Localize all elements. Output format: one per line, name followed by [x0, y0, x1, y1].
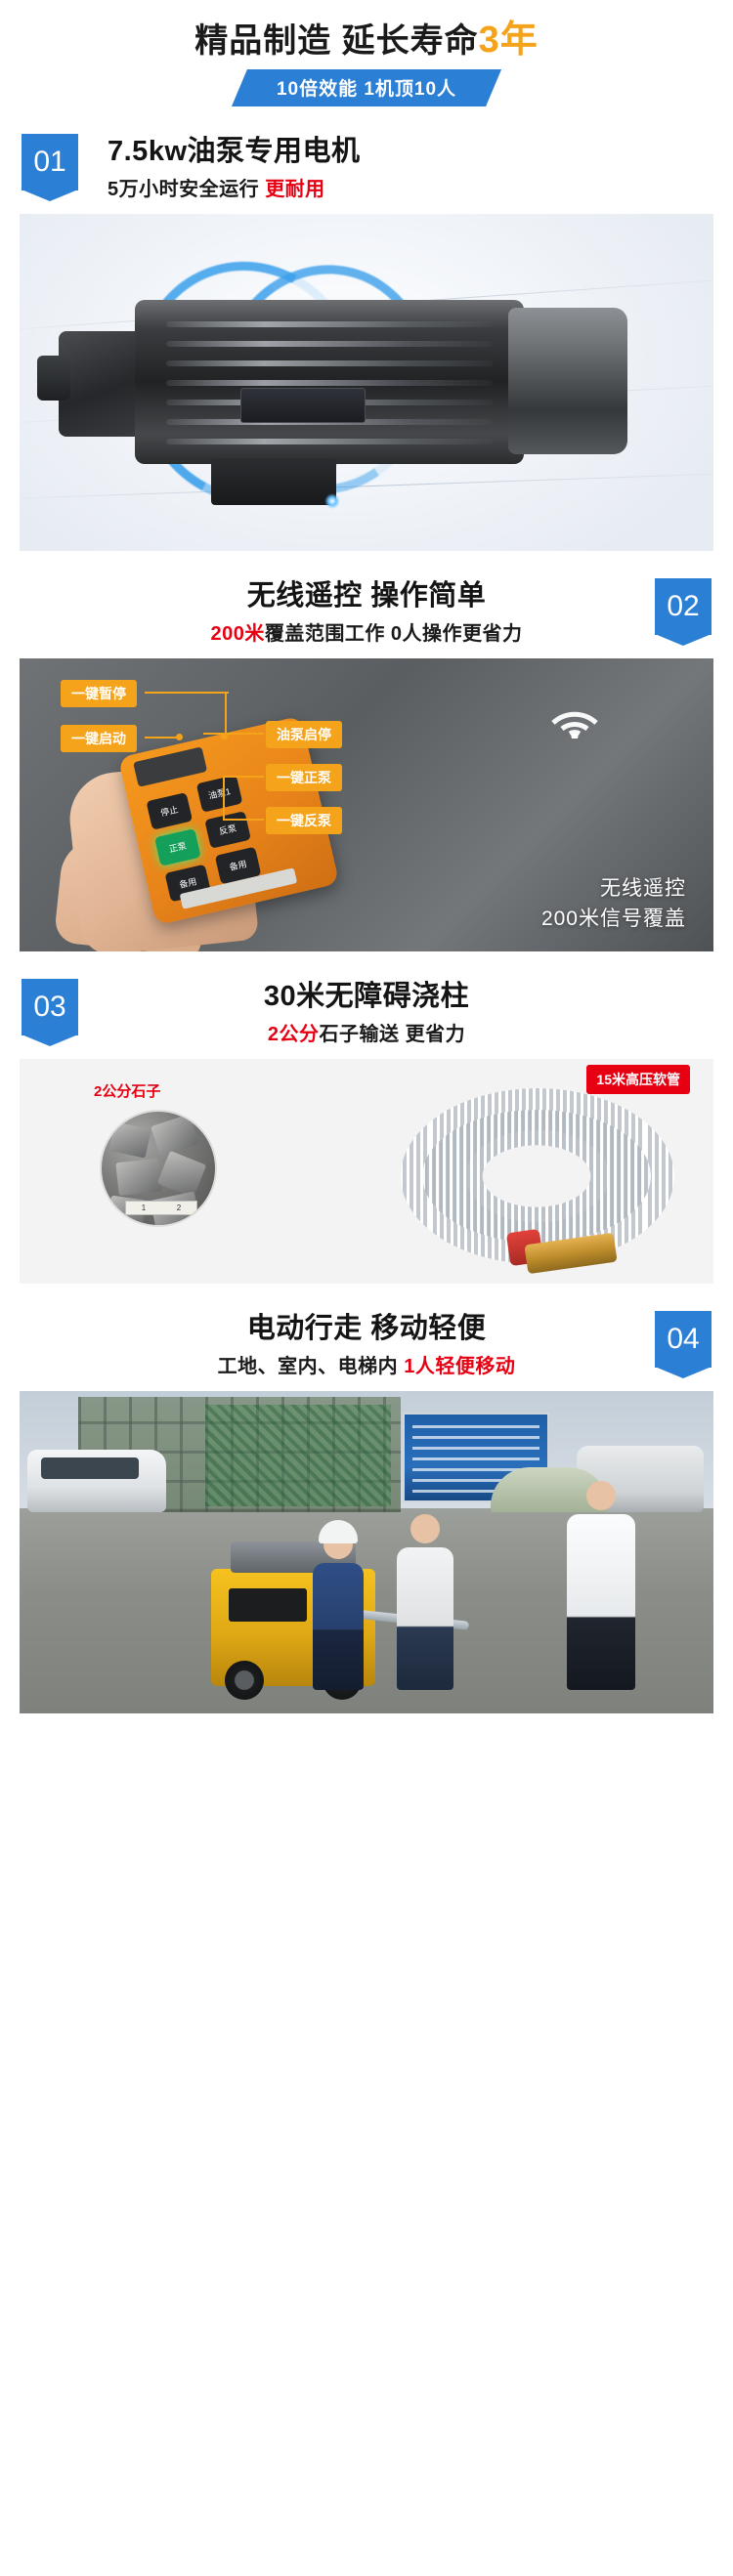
callout-pump-toggle: 油泵启停	[266, 721, 342, 748]
section-03-head: 03 30米无障碍浇柱 2公分石子输送 更省力	[0, 969, 733, 1059]
section-02-headtext: 无线遥控 操作简单 200米覆盖范围工作 0人操作更省力	[0, 569, 733, 649]
section-02-title: 无线遥控 操作简单	[0, 576, 733, 615]
worker-white-shirt	[397, 1547, 453, 1690]
section-04-subtitle: 工地、室内、电梯内 1人轻便移动	[0, 1352, 733, 1381]
section-04-badge: 04	[655, 1311, 711, 1368]
motor-base-foot	[211, 458, 336, 505]
section-04-headtext: 电动行走 移动轻便 工地、室内、电梯内 1人轻便移动	[0, 1301, 733, 1381]
stone-sample-circle: 1 2	[100, 1110, 217, 1227]
section-04: 04 电动行走 移动轻便 工地、室内、电梯内 1人轻便移动	[0, 1301, 733, 1713]
section-02-subtitle: 200米覆盖范围工作 0人操作更省力	[0, 619, 733, 649]
callout-start-dot	[176, 734, 183, 740]
callout-reverse: 一键反泵	[266, 807, 342, 834]
page-title: 精品制造 延长寿命3年	[0, 18, 733, 63]
led-glow-icon	[324, 493, 340, 509]
callout-reverse-line	[223, 819, 264, 821]
product-detail-page: 精品制造 延长寿命3年 10倍效能 1机顶10人 01 7.5kw油泵专用电机 …	[0, 0, 733, 1713]
remote-control-photo: 停止 油泵1 正泵 反泵 备用 备用 一键暂停 一键启动 油泵启停 一键正泵 一…	[20, 658, 713, 951]
ruler-mark-2: 2	[177, 1204, 181, 1212]
section-01-badge: 01	[22, 134, 78, 190]
remote-display	[133, 746, 207, 787]
section-02-badge: 02	[655, 578, 711, 635]
section-01-title: 7.5kw油泵专用电机	[108, 132, 361, 171]
callout-pause-drop	[225, 692, 227, 735]
worker-blue-shirt	[313, 1563, 364, 1690]
motor-photo	[20, 214, 713, 551]
section-03-subtitle-main: 石子输送 更省力	[320, 1024, 466, 1045]
callout-pause-line	[145, 692, 229, 694]
callout-start: 一键启动	[61, 725, 137, 752]
section-01-subtitle-accent: 更耐用	[265, 179, 325, 200]
worker-head-1	[410, 1514, 440, 1543]
remote-button-stop[interactable]: 停止	[146, 792, 193, 830]
stone-size-label: 2公分石子	[94, 1080, 160, 1101]
machine-wheel-left	[225, 1661, 264, 1700]
callout-pump-line	[203, 733, 264, 735]
motor-shaft-housing	[508, 308, 627, 454]
section-03-badge: 03	[22, 979, 78, 1035]
motor-cooling-fins	[135, 300, 524, 464]
wifi-signal-icon	[545, 690, 604, 739]
machine-control-panel	[229, 1588, 307, 1622]
worksite-photo	[20, 1391, 713, 1713]
header-banner-wrap: 10倍效能 1机顶10人	[0, 69, 733, 106]
remote-button-reverse[interactable]: 反泵	[204, 811, 251, 849]
page-title-main: 精品制造 延长寿命	[194, 22, 478, 60]
hose-length-tag: 15米高压软管	[586, 1065, 690, 1094]
page-title-accent: 3年	[479, 20, 539, 61]
remote-corner-caption: 无线遥控 200米信号覆盖	[541, 873, 686, 934]
callout-reverse-drop	[223, 776, 225, 821]
section-03: 03 30米无障碍浇柱 2公分石子输送 更省力 15米高压软管 2公分石子	[0, 969, 733, 1284]
safety-net	[205, 1405, 391, 1506]
section-04-head: 04 电动行走 移动轻便 工地、室内、电梯内 1人轻便移动	[0, 1301, 733, 1391]
callout-pause: 一键暂停	[61, 680, 137, 707]
page-header: 精品制造 延长寿命3年 10倍效能 1机顶10人	[0, 0, 733, 106]
section-03-subtitle: 2公分石子输送 更省力	[0, 1020, 733, 1049]
callout-forward-line	[223, 776, 264, 778]
section-04-subtitle-main: 工地、室内、电梯内	[218, 1356, 405, 1377]
streak-3	[20, 471, 713, 500]
corner-line-1: 无线遥控	[541, 873, 686, 904]
section-01: 01 7.5kw油泵专用电机 5万小时安全运行 更耐用	[0, 124, 733, 551]
section-03-headtext: 30米无障碍浇柱 2公分石子输送 更省力	[0, 969, 733, 1049]
callout-forward: 一键正泵	[266, 764, 342, 791]
section-04-subtitle-accent: 1人轻便移动	[404, 1356, 515, 1377]
white-van	[27, 1450, 166, 1512]
motor-terminal-box	[240, 388, 366, 423]
section-02-subtitle-accent: 200米	[210, 623, 264, 645]
motor-pump-neck	[37, 356, 70, 401]
section-02-head: 02 无线遥控 操作简单 200米覆盖范围工作 0人操作更省力	[0, 569, 733, 658]
header-banner: 10倍效能 1机顶10人	[232, 69, 501, 106]
remote-button-pump[interactable]: 油泵1	[196, 775, 243, 813]
stone-ruler: 1 2	[125, 1201, 197, 1215]
ruler-mark-1: 1	[142, 1204, 146, 1212]
hose-photo: 15米高压软管 2公分石子 1 2	[20, 1059, 713, 1284]
section-02-subtitle-main: 覆盖范围工作 0人操作更省力	[265, 623, 523, 645]
corner-line-2: 200米信号覆盖	[541, 904, 686, 934]
section-03-title: 30米无障碍浇柱	[0, 977, 733, 1016]
worker-foreground	[567, 1514, 635, 1690]
callout-start-line	[145, 737, 180, 739]
hose-coil-inner	[422, 1110, 651, 1243]
section-04-title: 电动行走 移动轻便	[0, 1309, 733, 1348]
remote-button-forward[interactable]: 正泵	[154, 828, 201, 866]
section-01-headtext: 7.5kw油泵专用电机 5万小时安全运行 更耐用	[108, 132, 361, 204]
section-01-subtitle-main: 5万小时安全运行	[108, 179, 265, 200]
section-01-head: 01 7.5kw油泵专用电机 5万小时安全运行 更耐用	[0, 124, 733, 214]
motor-body	[135, 300, 524, 464]
worker-head-3	[586, 1481, 616, 1510]
section-02: 02 无线遥控 操作简单 200米覆盖范围工作 0人操作更省力 停止	[0, 569, 733, 951]
section-01-subtitle: 5万小时安全运行 更耐用	[108, 175, 361, 204]
section-03-subtitle-accent: 2公分	[268, 1024, 320, 1045]
